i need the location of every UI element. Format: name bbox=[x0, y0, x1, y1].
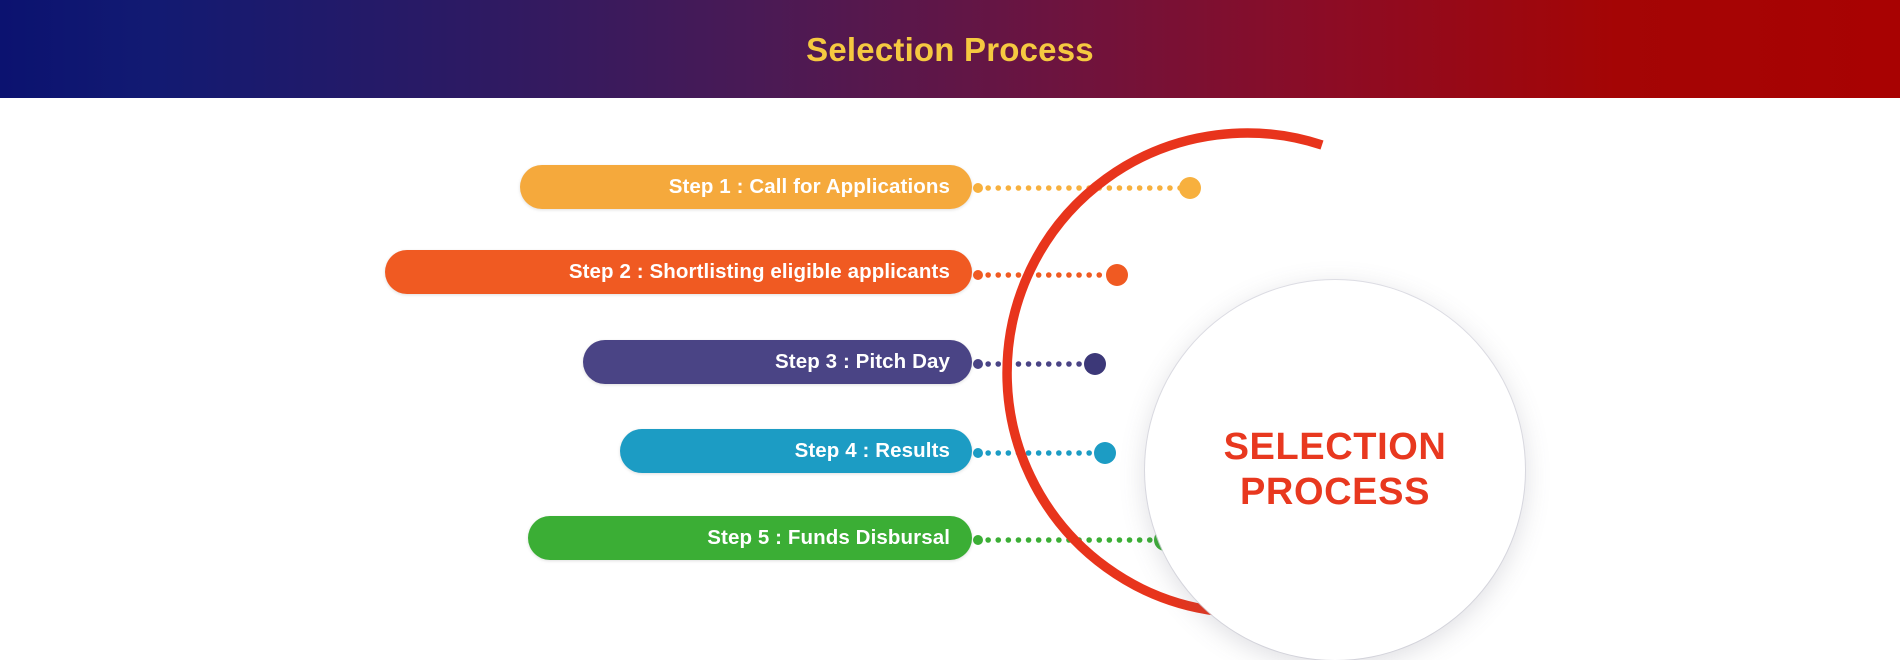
center-circle-badge: SELECTION PROCESS bbox=[1145, 280, 1525, 660]
connector-origin-dot-step-3 bbox=[973, 359, 983, 369]
connector-origin-dot-step-1 bbox=[973, 183, 983, 193]
step-pill-2[interactable]: Step 2 : Shortlisting eligible applicant… bbox=[385, 250, 972, 294]
step-pill-1-label: Step 1 : Call for Applications bbox=[669, 177, 950, 198]
step-pill-3[interactable]: Step 3 : Pitch Day bbox=[583, 340, 972, 384]
arc-dot-step-2 bbox=[1106, 264, 1128, 286]
connector-origin-dot-step-4 bbox=[973, 448, 983, 458]
process-diagram: Step 1 : Call for Applications Step 2 : … bbox=[0, 98, 1900, 660]
arc-dot-step-1 bbox=[1179, 177, 1201, 199]
selection-process-infographic: Selection Process bbox=[0, 0, 1900, 660]
arc-dot-step-4 bbox=[1094, 442, 1116, 464]
center-circle-title-line-2: PROCESS bbox=[1240, 470, 1430, 515]
connector-origin-dot-step-2 bbox=[973, 270, 983, 280]
arc-dot-step-3 bbox=[1084, 353, 1106, 375]
connector-origin-dot-step-5 bbox=[973, 535, 983, 545]
connector-origin-dots bbox=[973, 183, 983, 545]
step-pill-3-label: Step 3 : Pitch Day bbox=[775, 352, 950, 373]
step-pill-4-label: Step 4 : Results bbox=[795, 441, 950, 462]
step-pill-5[interactable]: Step 5 : Funds Disbursal bbox=[528, 516, 972, 560]
header-banner: Selection Process bbox=[0, 0, 1900, 98]
page-title: Selection Process bbox=[806, 33, 1094, 66]
step-pill-5-label: Step 5 : Funds Disbursal bbox=[707, 528, 950, 549]
step-pill-2-label: Step 2 : Shortlisting eligible applicant… bbox=[569, 262, 950, 283]
step-pill-1[interactable]: Step 1 : Call for Applications bbox=[520, 165, 972, 209]
center-circle-title-line-1: SELECTION bbox=[1224, 425, 1447, 470]
step-pill-4[interactable]: Step 4 : Results bbox=[620, 429, 972, 473]
